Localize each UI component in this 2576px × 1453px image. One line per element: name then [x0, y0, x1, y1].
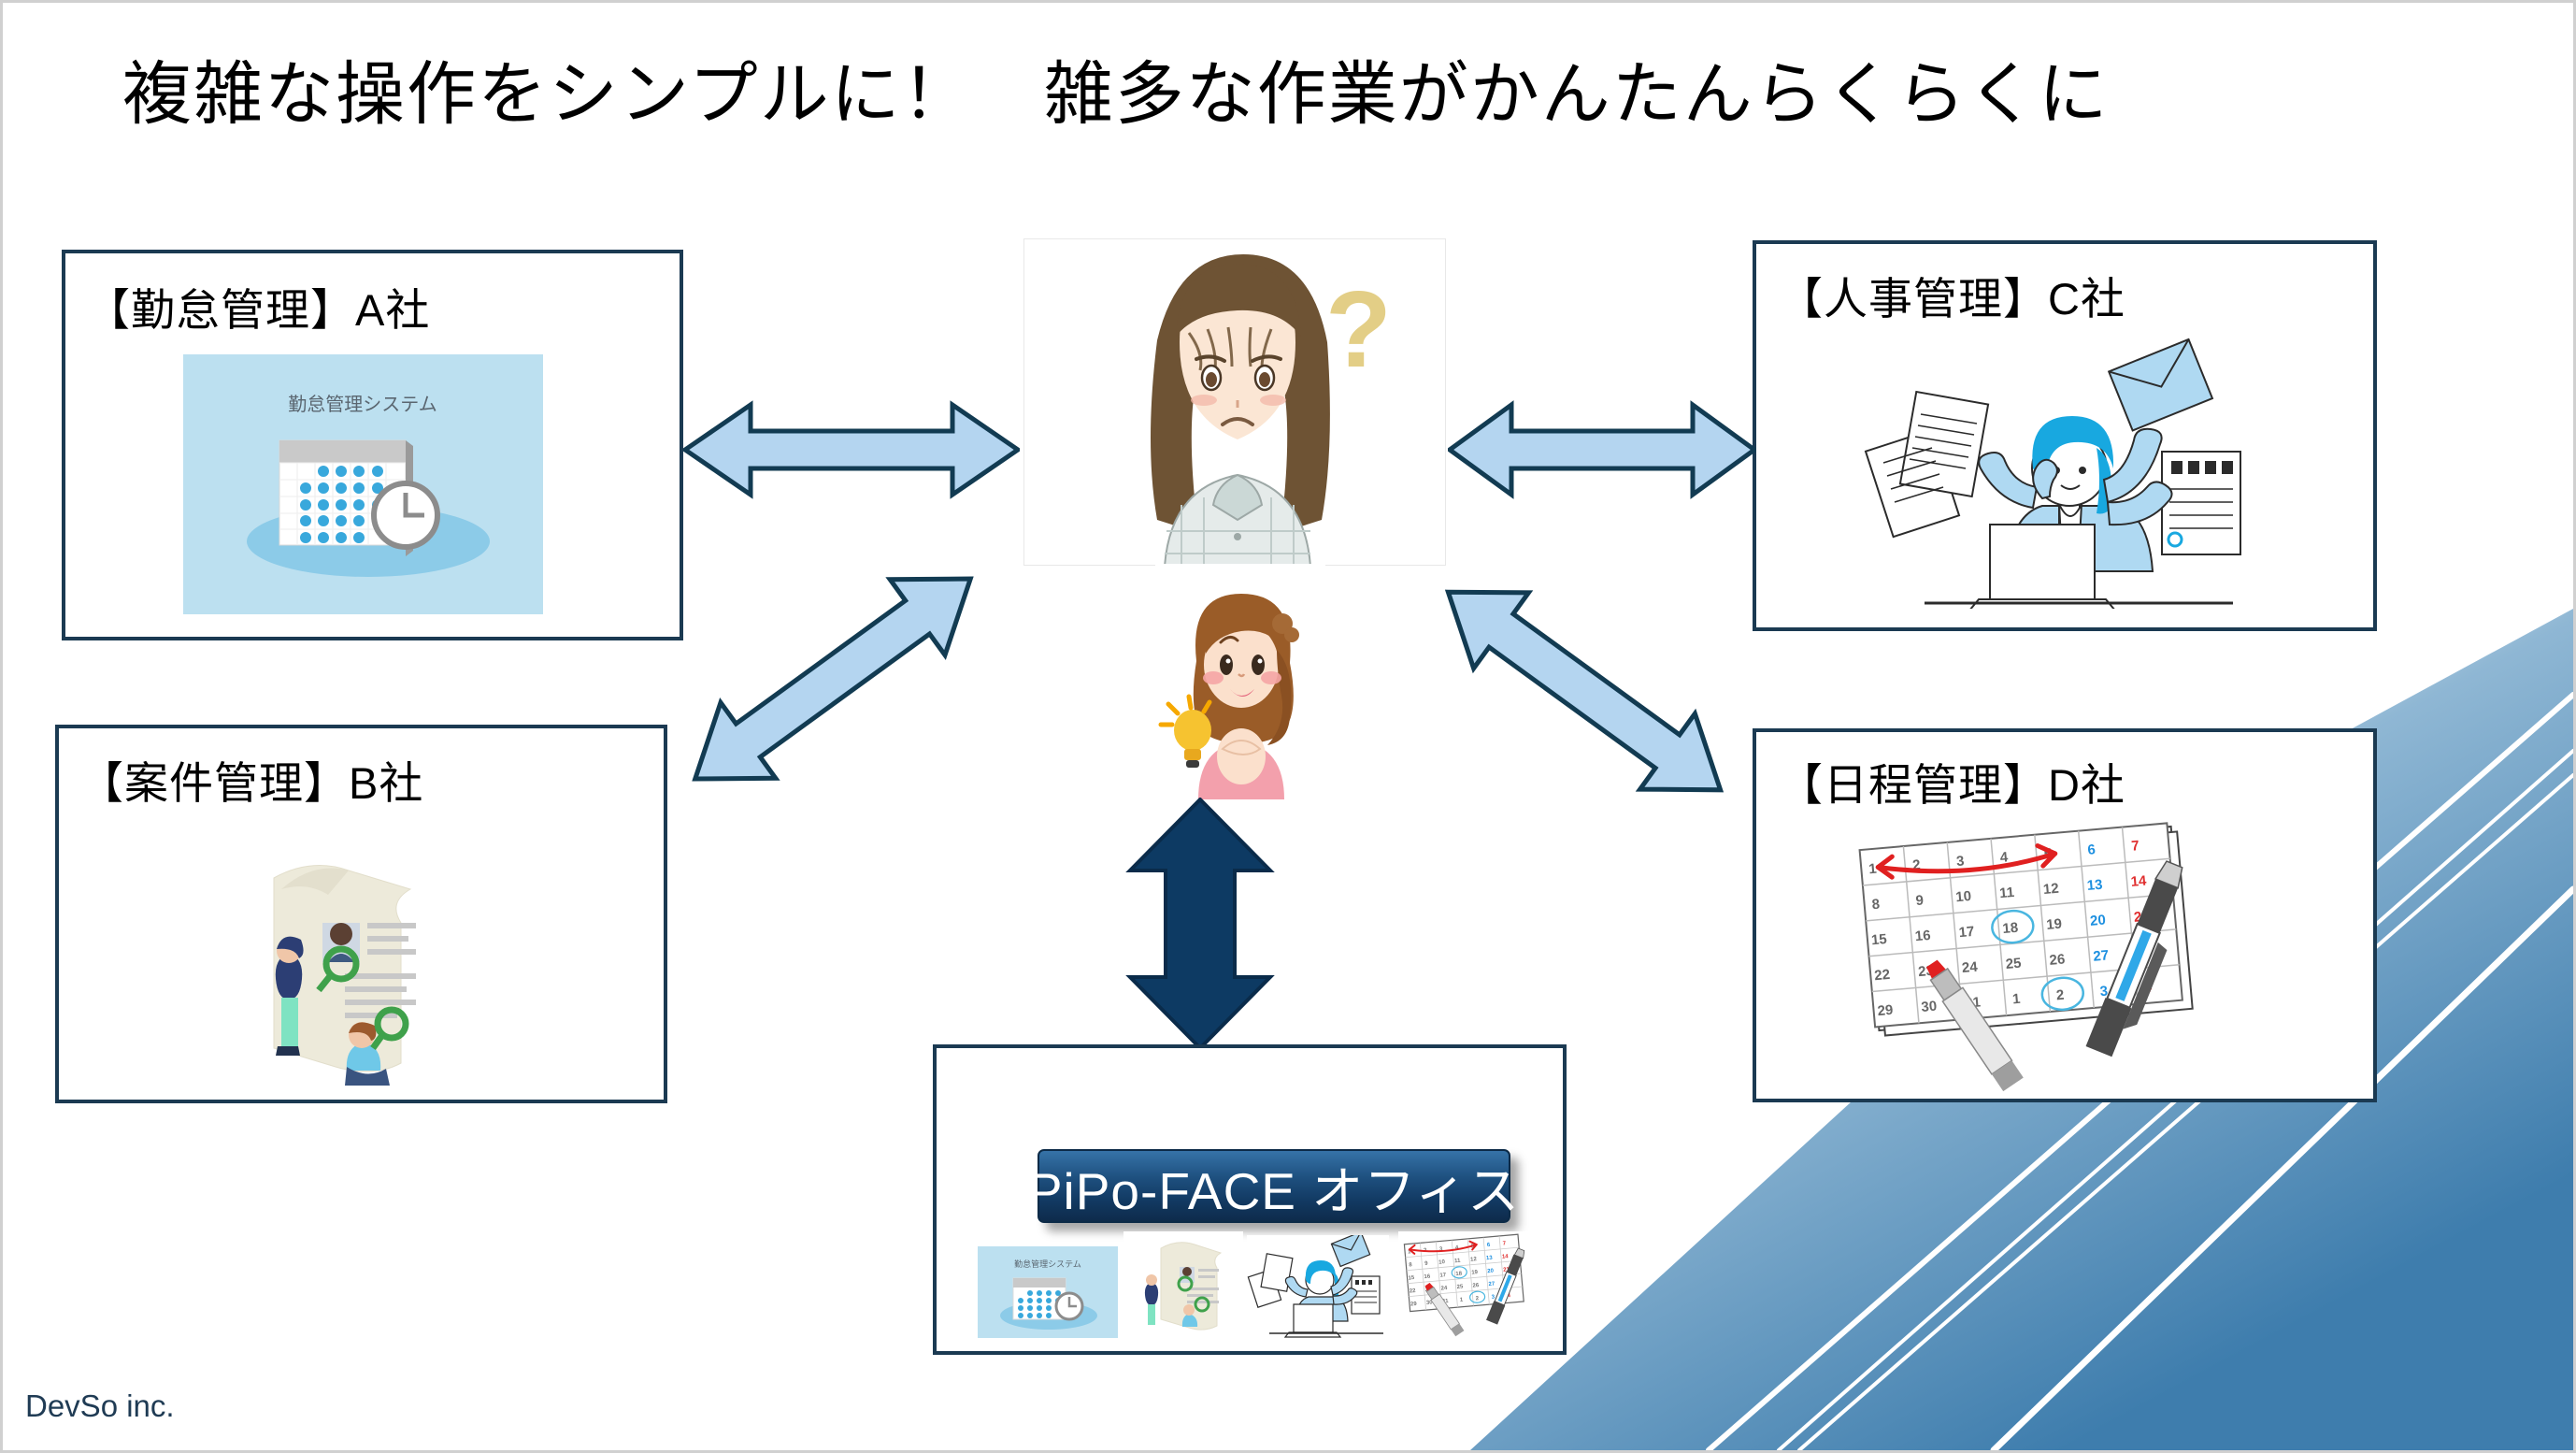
svg-text:3: 3: [1955, 853, 1965, 870]
svg-text:勤怠管理システム: 勤怠管理システム: [1014, 1259, 1081, 1269]
svg-text:22: 22: [1874, 967, 1891, 984]
svg-text:11: 11: [1998, 885, 2014, 901]
svg-text:29: 29: [1410, 1302, 1418, 1308]
box-project-label: 【案件管理】B社: [79, 747, 423, 812]
svg-text:27: 27: [2093, 947, 2110, 964]
arrow-lower-left-diagonal: [637, 534, 1029, 824]
svg-text:18: 18: [1455, 1272, 1463, 1278]
svg-text:17: 17: [1958, 924, 1975, 941]
svg-text:19: 19: [1471, 1270, 1479, 1276]
box-project[interactable]: 【案件管理】B社: [55, 725, 667, 1103]
arrow-center-vertical: [1121, 798, 1280, 1050]
arrow-right-horizontal: [1448, 394, 1756, 506]
svg-text:8: 8: [1871, 897, 1881, 914]
svg-text:1: 1: [1868, 861, 1878, 878]
svg-text:25: 25: [2005, 956, 2022, 972]
question-mark-icon: ?: [1325, 268, 1392, 390]
svg-text:1: 1: [2011, 991, 2021, 1008]
svg-text:12: 12: [2042, 881, 2059, 898]
pipo-face-label: PiPo-FACE オフィス: [1028, 1149, 1520, 1224]
svg-text:11: 11: [1454, 1259, 1462, 1265]
thumb-schedule: 123 45 67 8910 1112 1314 151617 1819 202…: [1398, 1231, 1544, 1340]
svg-text:17: 17: [1439, 1273, 1447, 1279]
confused-woman-image: ?: [1023, 238, 1446, 566]
svg-text:19: 19: [2046, 916, 2063, 933]
svg-text:勤怠管理システム: 勤怠管理システム: [288, 394, 436, 415]
thumb-hr: [1247, 1235, 1389, 1338]
svg-text:14: 14: [1502, 1254, 1510, 1260]
box-schedule[interactable]: 【日程管理】D社 123 45: [1753, 728, 2377, 1102]
svg-text:10: 10: [1438, 1259, 1446, 1266]
svg-text:24: 24: [1440, 1286, 1448, 1292]
box-hr-label: 【人事管理】C社: [1779, 263, 2125, 327]
svg-text:30: 30: [1921, 999, 1938, 1015]
svg-text:27: 27: [1488, 1282, 1496, 1288]
svg-text:10: 10: [1955, 888, 1972, 905]
svg-text:20: 20: [1487, 1269, 1495, 1275]
svg-text:7: 7: [2131, 838, 2140, 855]
thumb-project: [1123, 1231, 1243, 1338]
svg-text:25: 25: [1456, 1284, 1464, 1290]
footer-company: DevSo inc.: [25, 1388, 175, 1424]
svg-text:16: 16: [1424, 1273, 1431, 1280]
box-attendance[interactable]: 【勤怠管理】A社 勤怠管理システム: [62, 250, 683, 640]
slide-title: 複雑な操作をシンプルに！ 雑多な作業がかんたんらくらくに: [122, 38, 2110, 138]
box-schedule-label: 【日程管理】D社: [1779, 749, 2125, 813]
svg-text:6: 6: [2087, 842, 2097, 858]
svg-text:?: ?: [1325, 268, 1392, 390]
svg-text:9: 9: [1915, 892, 1925, 909]
box-attendance-label: 【勤怠管理】A社: [86, 274, 430, 338]
box-product[interactable]: PiPo-FACE オフィス 勤怠管理システム: [933, 1044, 1567, 1355]
attendance-system-illustration: 勤怠管理システム: [183, 354, 543, 614]
svg-text:26: 26: [1472, 1283, 1480, 1289]
arrow-left-horizontal: [683, 394, 1020, 506]
svg-text:15: 15: [1408, 1275, 1415, 1282]
slide-canvas: 複雑な操作をシンプルに！ 雑多な作業がかんたんらくらくに 【勤怠管理】A社 勤怠…: [0, 0, 2576, 1453]
pipo-face-banner[interactable]: PiPo-FACE オフィス: [1038, 1149, 1510, 1223]
thumb-attendance: 勤怠管理システム: [978, 1246, 1118, 1338]
idea-woman-image: [1155, 564, 1325, 799]
svg-text:2: 2: [2055, 987, 2065, 1004]
document-review-illustration: [199, 822, 479, 1093]
svg-text:20: 20: [2089, 913, 2106, 929]
svg-text:24: 24: [1961, 959, 1979, 976]
svg-text:18: 18: [2002, 920, 2019, 937]
box-hr[interactable]: 【人事管理】C社: [1753, 240, 2377, 631]
busy-office-worker-illustration: [1859, 338, 2298, 609]
svg-text:12: 12: [1470, 1257, 1478, 1263]
svg-text:22: 22: [1410, 1288, 1417, 1295]
svg-text:14: 14: [2130, 872, 2148, 889]
svg-text:16: 16: [1914, 928, 1931, 944]
svg-text:15: 15: [1870, 931, 1887, 948]
svg-text:26: 26: [2049, 951, 2066, 968]
svg-text:13: 13: [1486, 1256, 1494, 1262]
svg-text:29: 29: [1877, 1002, 1894, 1019]
svg-text:13: 13: [2086, 877, 2103, 894]
arrow-lower-right-diagonal: [1388, 551, 1781, 831]
calendar-pens-illustration: 123 45 67 8910 1112 1314 151617 1819 202…: [1850, 822, 2252, 1093]
